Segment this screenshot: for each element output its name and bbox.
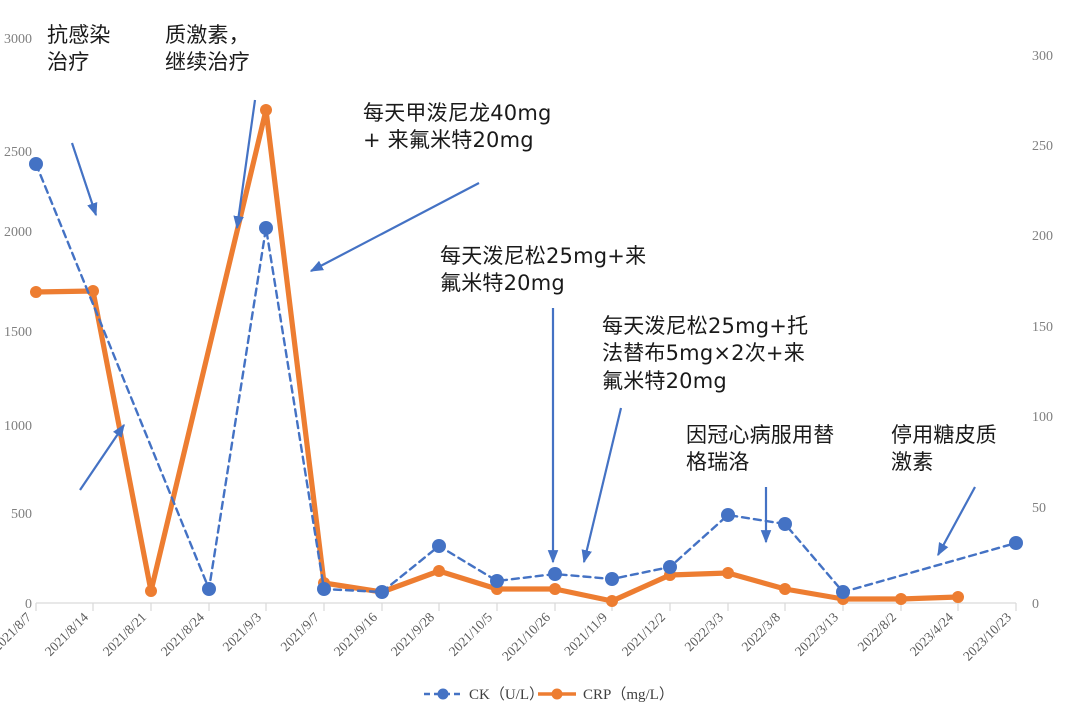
x-tick: 2021/8/14 [42,609,91,658]
x-tick: 2023/4/24 [907,609,956,658]
x-tick: 2021/8/24 [158,609,207,658]
x-tick: 2021/11/9 [561,609,610,658]
arrow-anti-infection [72,143,96,215]
annotation-methylprednisolone-40: 每天甲泼尼龙40mg + 来氟米特20mg [363,100,552,155]
x-tick: 2021/12/2 [619,610,668,659]
annotation-stop-steroid: 停用糖皮质 激素 [891,422,997,477]
x-tick: 2022/8/2 [855,610,900,655]
y-right-tick: 300 [1032,49,1053,64]
y-left-tick: 0 [25,597,32,612]
y-right-tick: 100 [1032,410,1053,425]
series-crp-markers [30,104,964,607]
y-right-tick: 50 [1032,501,1046,516]
y-left-tick: 3000 [4,32,32,47]
annotation-prednisone-tofacitinib: 每天泼尼松25mg+托 法替布5mg×2次+来 氟米特20mg [602,313,808,395]
y-right-tick: 0 [1032,597,1039,612]
x-tick: 2022/3/8 [739,609,784,654]
annotation-prednisone-25: 每天泼尼松25mg+来 氟米特20mg [440,243,646,298]
x-axis-ticks [36,603,1016,611]
legend-swatch-crp-marker [552,689,563,700]
x-tick: 2021/8/21 [100,610,149,659]
arrow-pred25-tofa [584,408,621,562]
y-left-tick: 500 [11,507,32,522]
x-tick: 2021/10/26 [499,609,553,663]
annotation-add-steroid: 质激素， 继续治疗 [165,22,250,77]
x-tick: 2021/9/7 [278,609,323,654]
series-ck-markers [29,157,1023,599]
x-tick: 2021/9/3 [220,609,265,654]
legend-item-crp[interactable]: CRP（mg/L） [538,686,674,703]
series-ck-line [36,164,1016,592]
x-tick: 2021/8/7 [0,609,34,654]
x-tick: 2021/10/5 [446,609,495,658]
legend-swatch-ck-marker [438,689,449,700]
y-left-tick: 2000 [4,225,32,240]
series-crp-line [36,110,958,601]
chart-legend: CK（U/L） CRP（mg/L） [424,686,674,703]
x-tick: 2021/9/28 [388,609,437,658]
x-tick: 2023/10/23 [960,609,1014,663]
annotation-ticagrelor: 因冠心病服用替 格瑞洛 [686,422,834,477]
chart-container: 3000 2500 2000 1500 1000 500 0 300 250 2… [0,0,1080,714]
arrow-up-left [80,425,124,490]
y-right-tick: 150 [1032,320,1053,335]
x-axis-labels: 2021/8/7 2021/8/14 2021/8/21 2021/8/24 2… [0,609,1014,663]
x-tick: 2022/3/13 [792,609,841,658]
y-left-tick: 1500 [4,325,32,340]
y-right-tick: 200 [1032,229,1053,244]
x-tick: 2022/3/3 [682,609,727,654]
y-right-tick: 250 [1032,139,1053,154]
legend-label-ck: CK（U/L） [469,686,544,703]
y-axis-left-labels: 3000 2500 2000 1500 1000 500 0 [4,32,32,612]
x-tick: 2021/9/16 [331,609,380,658]
annotation-anti-infection: 抗感染 治疗 [47,22,111,77]
arrow-stop-steroid [938,487,975,555]
legend-item-ck[interactable]: CK（U/L） [424,686,544,703]
y-left-tick: 2500 [4,145,32,160]
y-axis-right-labels: 300 250 200 150 100 50 0 [1032,49,1053,612]
callout-arrows [72,100,975,562]
legend-label-crp: CRP（mg/L） [583,686,674,703]
y-left-tick: 1000 [4,419,32,434]
